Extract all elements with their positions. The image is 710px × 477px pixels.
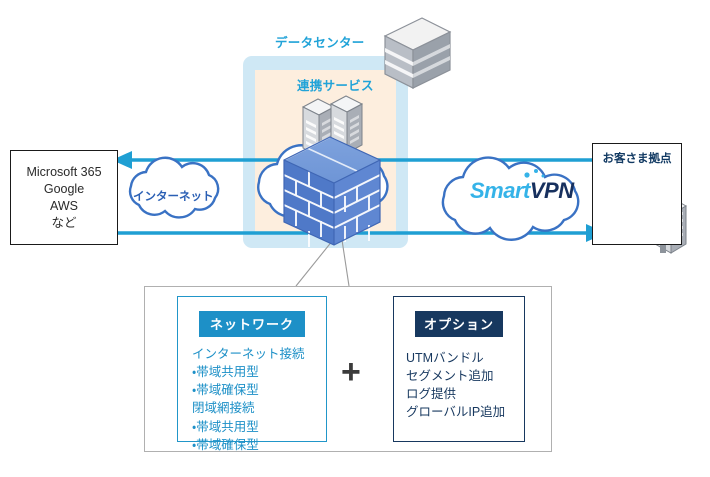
list-item: インターネット接続 [192, 345, 326, 363]
option-card: オプション UTMバンドル セグメント追加 ログ提供 グローバルIP追加 [393, 296, 525, 442]
cloud-services-list: Microsoft 365 Google AWS など [26, 164, 101, 232]
smartvpn-logo-vpn: VPN [530, 178, 574, 203]
cloud-service-item: など [26, 215, 101, 232]
linked-service-label: 連携サービス [297, 75, 374, 94]
datacenter-label: データセンター [275, 32, 365, 51]
list-item: 閉域網接続 [192, 399, 326, 417]
cloud-service-item: AWS [26, 198, 101, 215]
customer-site-box: お客さま拠点 [592, 143, 682, 245]
list-item: ログ提供 [406, 385, 524, 403]
list-item: ・帯域共用型 [192, 363, 326, 381]
option-card-list: UTMバンドル セグメント追加 ログ提供 グローバルIP追加 [394, 349, 524, 422]
network-card-list: インターネット接続 ・帯域共用型 ・帯域確保型 閉域網接続 ・帯域共用型 ・帯域… [178, 345, 326, 454]
list-item: グローバルIP追加 [406, 403, 524, 421]
cloud-service-item: Microsoft 365 [26, 164, 101, 181]
smartvpn-logo-smart: Smart [470, 178, 530, 203]
customer-site-label: お客さま拠点 [593, 150, 681, 166]
network-card: ネットワーク インターネット接続 ・帯域共用型 ・帯域確保型 閉域網接続 ・帯域… [177, 296, 327, 442]
list-item: セグメント追加 [406, 367, 524, 385]
list-item: ・帯域確保型 [192, 436, 326, 454]
plus-symbol: + [341, 355, 361, 389]
list-item: UTMバンドル [406, 349, 524, 367]
network-card-header: ネットワーク [199, 311, 305, 337]
cloud-service-item: Google [26, 181, 101, 198]
linked-service-panel [255, 70, 396, 234]
diagram-canvas: データセンター 連携サービス Microsoft 365 Google AWS … [0, 0, 710, 477]
option-card-header: オプション [415, 311, 503, 337]
list-item: ・帯域共用型 [192, 418, 326, 436]
cloud-services-box: Microsoft 365 Google AWS など [10, 150, 118, 245]
list-item: ・帯域確保型 [192, 381, 326, 399]
internet-cloud-label: インターネット [133, 188, 214, 204]
smartvpn-logo: SmartVPN [470, 178, 574, 204]
